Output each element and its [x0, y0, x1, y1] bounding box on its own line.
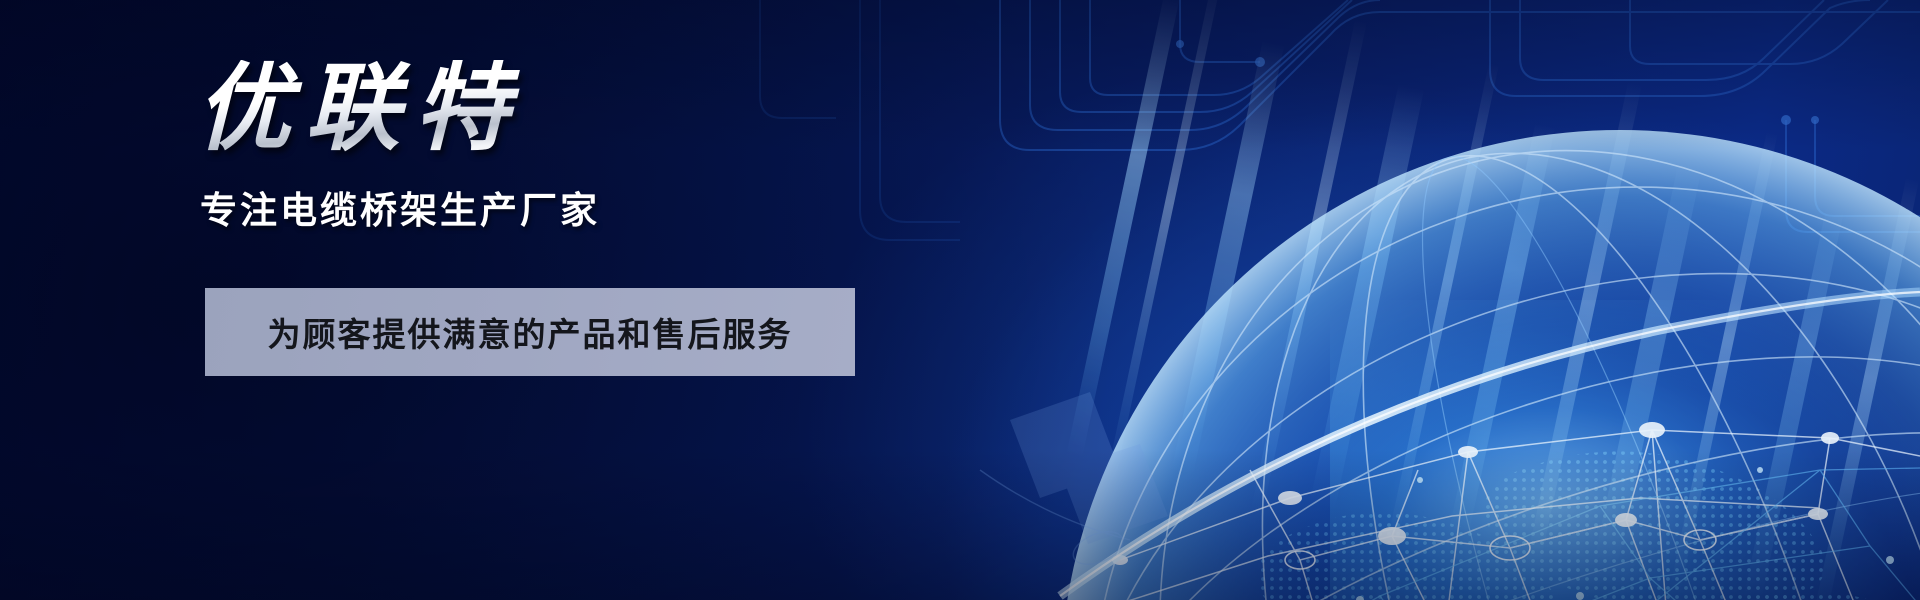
hero-banner: 优联特 专注电缆桥架生产厂家 为顾客提供满意的产品和售后服务: [0, 0, 1920, 600]
promo-text: 为顾客提供满意的产品和售后服务: [268, 308, 793, 356]
brand-title: 优联特: [196, 60, 523, 160]
banner-copy-block: 优联特 专注电缆桥架生产厂家 为顾客提供满意的产品和售后服务: [0, 0, 900, 600]
promo-box: 为顾客提供满意的产品和售后服务: [205, 288, 855, 376]
banner-subtitle: 专注电缆桥架生产厂家: [200, 180, 600, 234]
